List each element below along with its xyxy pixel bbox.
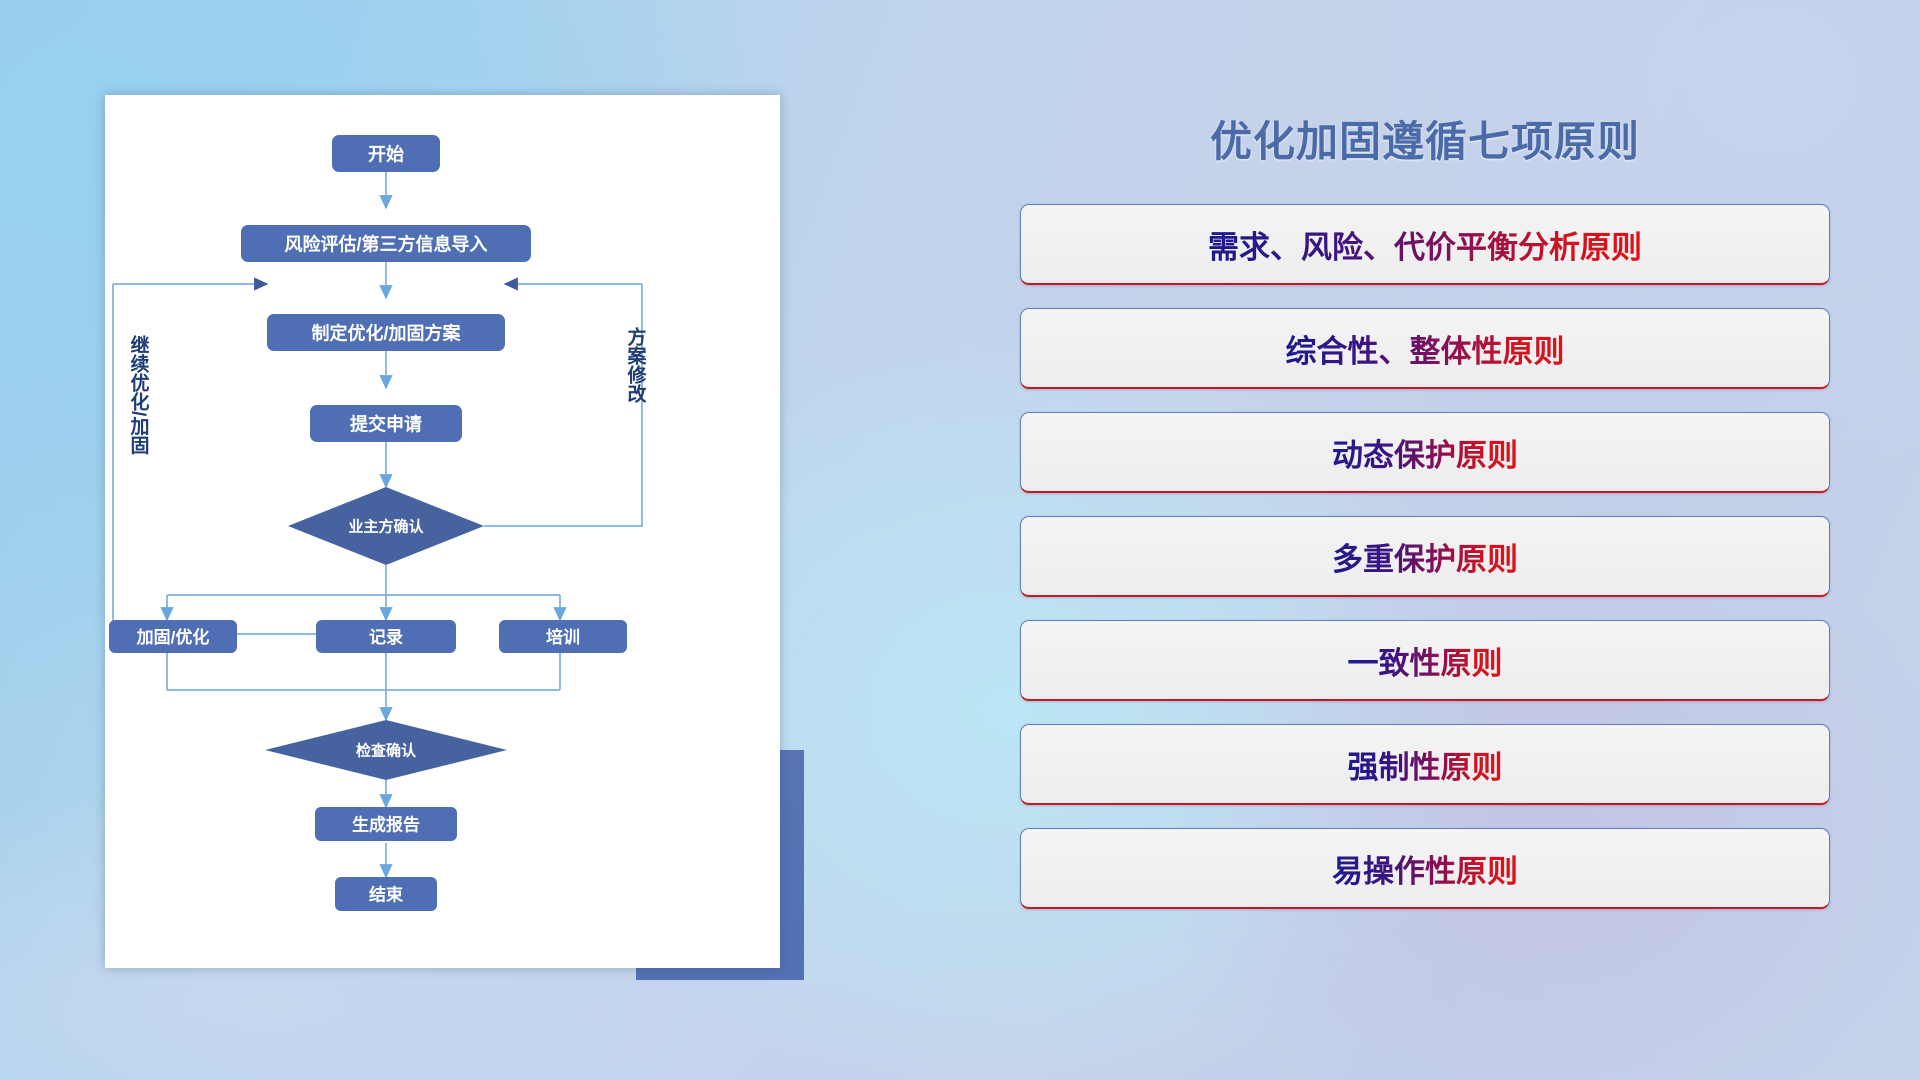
node-end-label: 结束 xyxy=(369,885,403,905)
node-record-label: 记录 xyxy=(369,628,403,647)
edge-label-left-loop: 继续优化/加固 xyxy=(128,334,151,455)
node-submit-label: 提交申请 xyxy=(350,414,422,435)
principle-label: 强制性原则 xyxy=(1348,742,1503,787)
edge-label-right-loop: 方案修改 xyxy=(625,326,648,404)
principles-panel: 优化加固遵循七项原则 需求、风险、代价平衡分析原则 综合性、整体性原则 动态保护… xyxy=(1020,92,1830,992)
principles-list: 需求、风险、代价平衡分析原则 综合性、整体性原则 动态保护原则 多重保护原则 一… xyxy=(1020,204,1830,932)
principle-item-2[interactable]: 综合性、整体性原则 xyxy=(1020,308,1830,389)
flowchart-diagram: 开始 风险评估/第三方信息导入 制定优化/加固方案 提交申请 业主方确认 加固/… xyxy=(105,95,780,968)
node-reinforce[interactable]: 加固/优化 xyxy=(109,620,237,653)
node-check-confirm[interactable]: 检查确认 xyxy=(265,720,507,780)
node-check-label: 检查确认 xyxy=(356,742,417,760)
principle-item-3[interactable]: 动态保护原则 xyxy=(1020,412,1830,493)
principle-item-5[interactable]: 一致性原则 xyxy=(1020,620,1830,701)
node-plan-label: 制定优化/加固方案 xyxy=(311,323,461,344)
principle-label: 动态保护原则 xyxy=(1332,430,1518,475)
principle-item-1[interactable]: 需求、风险、代价平衡分析原则 xyxy=(1020,204,1830,285)
node-start-label: 开始 xyxy=(368,144,404,165)
node-reinforce-label: 加固/优化 xyxy=(136,627,210,647)
node-risk-assessment[interactable]: 风险评估/第三方信息导入 xyxy=(241,225,531,262)
node-plan[interactable]: 制定优化/加固方案 xyxy=(267,314,505,351)
node-training-label: 培训 xyxy=(546,627,580,647)
principle-label: 需求、风险、代价平衡分析原则 xyxy=(1208,222,1642,267)
node-training[interactable]: 培训 xyxy=(499,620,627,653)
principle-label: 易操作性原则 xyxy=(1332,846,1518,891)
principle-label: 一致性原则 xyxy=(1348,638,1503,683)
principle-label: 多重保护原则 xyxy=(1332,534,1518,579)
node-owner-confirm[interactable]: 业主方确认 xyxy=(288,487,484,565)
node-risk-label: 风险评估/第三方信息导入 xyxy=(285,234,488,255)
panel-title: 优化加固遵循七项原则 xyxy=(1020,108,1830,169)
node-start[interactable]: 开始 xyxy=(332,135,440,172)
node-report-label: 生成报告 xyxy=(352,815,420,835)
principle-item-6[interactable]: 强制性原则 xyxy=(1020,724,1830,805)
node-report[interactable]: 生成报告 xyxy=(315,807,457,841)
node-record[interactable]: 记录 xyxy=(316,620,456,653)
slide-canvas: 开始 风险评估/第三方信息导入 制定优化/加固方案 提交申请 业主方确认 加固/… xyxy=(0,0,1920,1080)
principle-item-4[interactable]: 多重保护原则 xyxy=(1020,516,1830,597)
edge-right-loop-vertical xyxy=(484,284,642,526)
principle-item-7[interactable]: 易操作性原则 xyxy=(1020,828,1830,909)
node-end[interactable]: 结束 xyxy=(335,877,437,911)
principle-label: 综合性、整体性原则 xyxy=(1286,326,1565,371)
node-submit[interactable]: 提交申请 xyxy=(310,405,462,442)
node-confirm-label: 业主方确认 xyxy=(348,518,424,536)
